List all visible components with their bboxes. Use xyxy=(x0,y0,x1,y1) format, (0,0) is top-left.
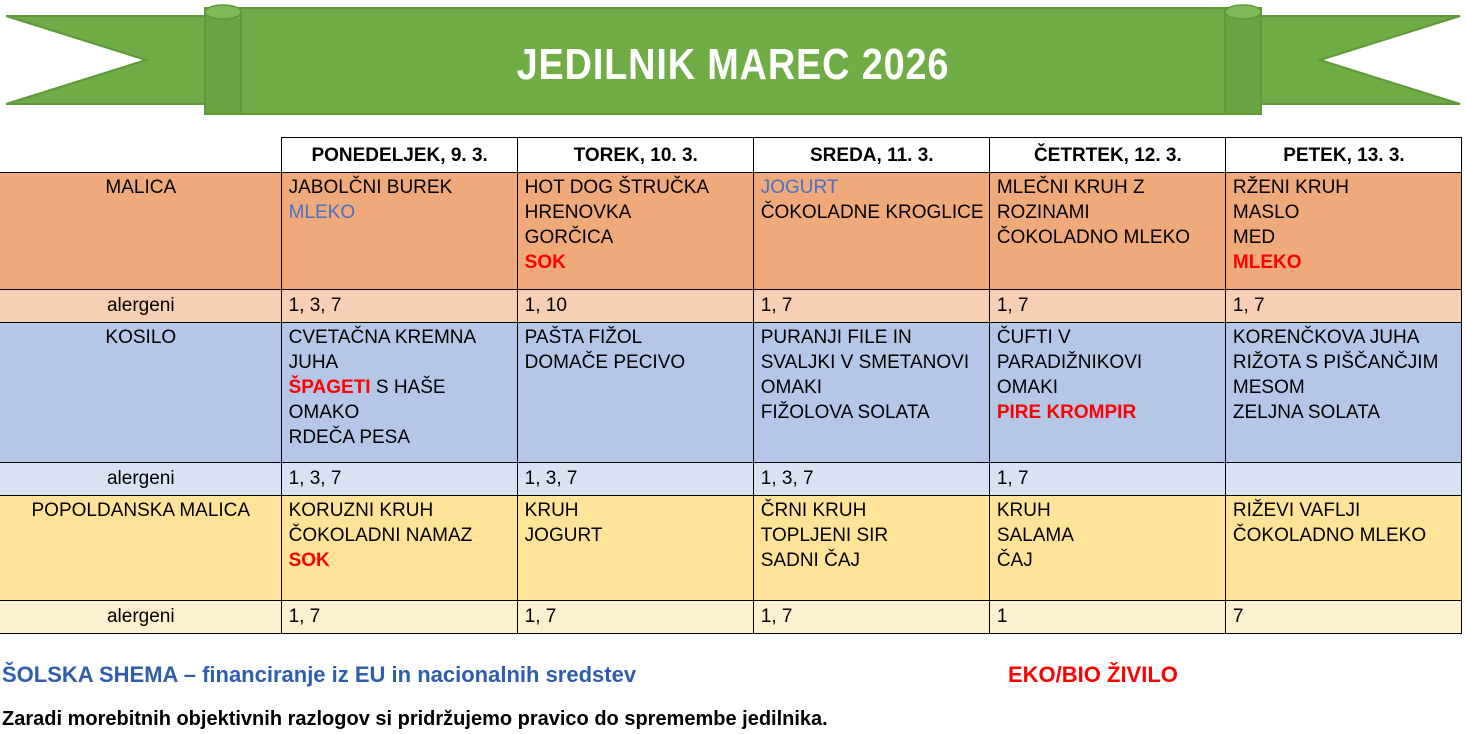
allergen-cell: 1, 7 xyxy=(753,290,989,323)
menu-item: PURANJI FILE IN xyxy=(761,325,983,350)
meal-cell: ČUFTI VPARADIŽNIKOVIOMAKIPIRE KROMPIR xyxy=(989,323,1225,463)
menu-item: ŠPAGETI S HAŠE xyxy=(289,375,511,400)
menu-item: SVALJKI V SMETANOVI xyxy=(761,350,983,375)
table-corner-cell xyxy=(0,138,281,173)
menu-item: RIŽEVI VAFLJI xyxy=(1233,498,1455,523)
menu-item: SOK xyxy=(525,250,747,275)
menu-item: GORČICA xyxy=(525,225,747,250)
menu-item: RDEČA PESA xyxy=(289,425,511,450)
day-header-5: PETEK, 13. 3. xyxy=(1225,138,1461,173)
menu-item: MESOM xyxy=(1233,375,1455,400)
menu-table: PONEDELJEK, 9. 3.TOREK, 10. 3.SREDA, 11.… xyxy=(0,137,1462,634)
menu-item: HOT DOG ŠTRUČKA xyxy=(525,175,747,200)
menu-item-rest: S HAŠE xyxy=(371,377,446,398)
menu-item: MASLO xyxy=(1233,200,1455,225)
meal-cell: KORENČKOVA JUHARIŽOTA S PIŠČANČJIMMESOMZ… xyxy=(1225,323,1461,463)
menu-item: SALAMA xyxy=(997,523,1219,548)
allergen-row-kosilo: alergeni1, 3, 71, 3, 71, 3, 71, 7 xyxy=(0,463,1462,496)
menu-item: MED xyxy=(1233,225,1455,250)
menu-item: KORENČKOVA JUHA xyxy=(1233,325,1455,350)
meal-cell: ČRNI KRUHTOPLJENI SIRSADNI ČAJ xyxy=(753,496,989,601)
school-scheme-note: ŠOLSKA SHEMA – financiranje iz EU in nac… xyxy=(2,662,636,688)
menu-item: ČOKOLADNO MLEKO xyxy=(997,225,1219,250)
ribbon-banner: JEDILNIK MAREC 2026 xyxy=(0,0,1466,122)
menu-item: RŽENI KRUH xyxy=(1233,175,1455,200)
menu-item: ČUFTI V xyxy=(997,325,1219,350)
menu-item: ČOKOLADNI NAMAZ xyxy=(289,523,511,548)
meal-cell: KRUHJOGURT xyxy=(517,496,753,601)
menu-item: HRENOVKA xyxy=(525,200,747,225)
allergen-cell: 1, 3, 7 xyxy=(517,463,753,496)
menu-item: ZELJNA SOLATA xyxy=(1233,400,1455,425)
banner-title: JEDILNIK MAREC 2026 xyxy=(103,40,1364,90)
menu-item: MLEKO xyxy=(289,200,511,225)
menu-item: SOK xyxy=(289,548,511,573)
allergen-cell: 1, 7 xyxy=(989,290,1225,323)
menu-item: PARADIŽNIKOVI xyxy=(997,350,1219,375)
menu-item: JOGURT xyxy=(525,523,747,548)
menu-item: ROZINAMI xyxy=(997,200,1219,225)
menu-item: SADNI ČAJ xyxy=(761,548,983,573)
menu-item: ČOKOLADNE KROGLICE xyxy=(761,200,983,225)
allergen-cell: 1, 3, 7 xyxy=(753,463,989,496)
menu-item: JUHA xyxy=(289,350,511,375)
menu-item: JOGURT xyxy=(761,175,983,200)
menu-item: CVETAČNA KREMNA xyxy=(289,325,511,350)
meal-row-malica: MALICAJABOLČNI BUREKMLEKOHOT DOG ŠTRUČKA… xyxy=(0,173,1462,290)
meal-cell: KRUHSALAMAČAJ xyxy=(989,496,1225,601)
allergen-cell: 1, 3, 7 xyxy=(281,290,517,323)
menu-item: PIRE KROMPIR xyxy=(997,400,1219,425)
menu-item: PAŠTA FIŽOL xyxy=(525,325,747,350)
meal-row-popoldanska-malica: POPOLDANSKA MALICAKORUZNI KRUHČOKOLADNI … xyxy=(0,496,1462,601)
allergen-cell: 1, 7 xyxy=(1225,290,1461,323)
meal-cell: MLEČNI KRUH ZROZINAMIČOKOLADNO MLEKO xyxy=(989,173,1225,290)
allergen-cell xyxy=(1225,463,1461,496)
menu-item: KRUH xyxy=(525,498,747,523)
allergen-row-malica: alergeni1, 3, 71, 101, 71, 71, 7 xyxy=(0,290,1462,323)
meal-cell: CVETAČNA KREMNAJUHAŠPAGETI S HAŠEOMAKORD… xyxy=(281,323,517,463)
menu-item: ČRNI KRUH xyxy=(761,498,983,523)
meal-label-popoldanska-malica: POPOLDANSKA MALICA xyxy=(0,496,281,601)
menu-item: DOMAČE PECIVO xyxy=(525,350,747,375)
meal-label-malica: MALICA xyxy=(0,173,281,290)
meal-label-kosilo: KOSILO xyxy=(0,323,281,463)
menu-item: OMAKI xyxy=(761,375,983,400)
menu-item: KORUZNI KRUH xyxy=(289,498,511,523)
menu-item: KRUH xyxy=(997,498,1219,523)
allergen-label: alergeni xyxy=(0,290,281,323)
day-header-2: TOREK, 10. 3. xyxy=(517,138,753,173)
menu-item: TOPLJENI SIR xyxy=(761,523,983,548)
footer: ŠOLSKA SHEMA – financiranje iz EU in nac… xyxy=(0,626,1466,670)
day-header-3: SREDA, 11. 3. xyxy=(753,138,989,173)
meal-cell: HOT DOG ŠTRUČKAHRENOVKAGORČICASOK xyxy=(517,173,753,290)
menu-item: JABOLČNI BUREK xyxy=(289,175,511,200)
ribbon-right-fold-cap xyxy=(1225,5,1261,19)
menu-item: ČOKOLADNO MLEKO xyxy=(1233,523,1455,548)
menu-item-highlight: ŠPAGETI xyxy=(289,377,371,398)
menu-page: JEDILNIK MAREC 2026 PONEDELJEK, 9. 3.TOR… xyxy=(0,0,1466,734)
disclaimer-note: Zaradi morebitnih objektivnih razlogov s… xyxy=(2,708,828,731)
meal-cell: KORUZNI KRUHČOKOLADNI NAMAZSOK xyxy=(281,496,517,601)
menu-item: FIŽOLOVA SOLATA xyxy=(761,400,983,425)
meal-cell: RIŽEVI VAFLJIČOKOLADNO MLEKO xyxy=(1225,496,1461,601)
day-header-1: PONEDELJEK, 9. 3. xyxy=(281,138,517,173)
allergen-label: alergeni xyxy=(0,463,281,496)
meal-row-kosilo: KOSILOCVETAČNA KREMNAJUHAŠPAGETI S HAŠEO… xyxy=(0,323,1462,463)
menu-item: ČAJ xyxy=(997,548,1219,573)
menu-item: RIŽOTA S PIŠČANČJIM xyxy=(1233,350,1455,375)
meal-cell: RŽENI KRUHMASLOMEDMLEKO xyxy=(1225,173,1461,290)
meal-cell: PAŠTA FIŽOLDOMAČE PECIVO xyxy=(517,323,753,463)
allergen-cell: 1, 7 xyxy=(989,463,1225,496)
meal-cell: JOGURTČOKOLADNE KROGLICE xyxy=(753,173,989,290)
menu-item: OMAKI xyxy=(997,375,1219,400)
table-header-row: PONEDELJEK, 9. 3.TOREK, 10. 3.SREDA, 11.… xyxy=(0,138,1462,173)
menu-item: OMAKO xyxy=(289,400,511,425)
day-header-4: ČETRTEK, 12. 3. xyxy=(989,138,1225,173)
allergen-cell: 1, 3, 7 xyxy=(281,463,517,496)
meal-cell: JABOLČNI BUREKMLEKO xyxy=(281,173,517,290)
ribbon-left-fold-cap xyxy=(205,5,241,19)
meal-cell: PURANJI FILE INSVALJKI V SMETANOVIOMAKIF… xyxy=(753,323,989,463)
menu-item: MLEČNI KRUH Z xyxy=(997,175,1219,200)
menu-item: MLEKO xyxy=(1233,250,1455,275)
allergen-cell: 1, 10 xyxy=(517,290,753,323)
eko-bio-legend: EKO/BIO ŽIVILO xyxy=(1008,662,1178,688)
